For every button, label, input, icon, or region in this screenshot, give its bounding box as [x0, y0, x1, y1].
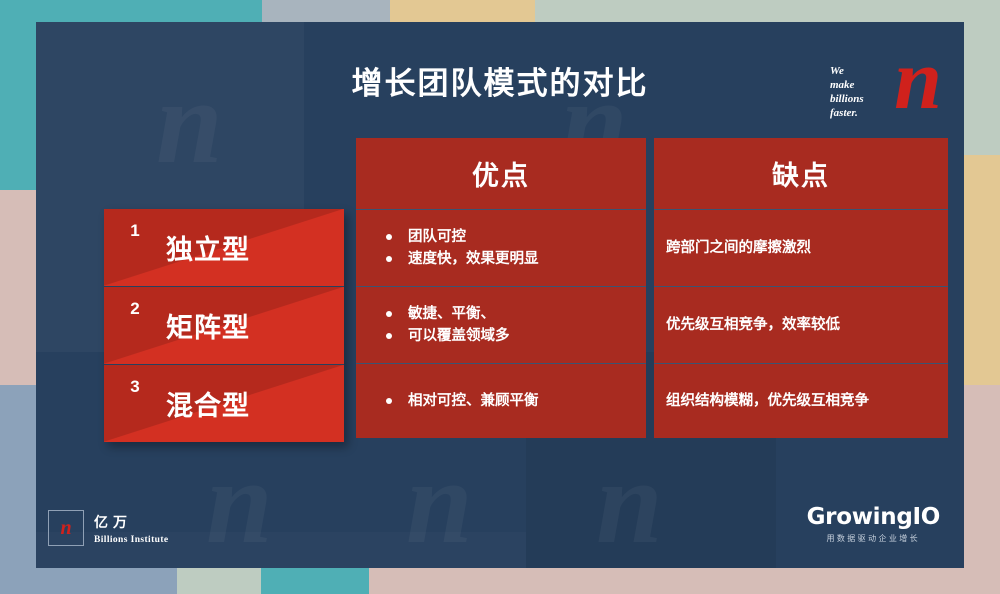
billions-name-en: Billions Institute [94, 535, 169, 545]
table-row-type-1[interactable]: 1 独立型 [104, 209, 344, 287]
brand-tagline-line-4: faster. [830, 106, 886, 120]
brand-tagline-line-3: billions [830, 92, 886, 106]
page-title: 增长团队模式的对比 [36, 58, 964, 103]
watermark-n-3: n [206, 442, 273, 562]
cons-column-header: 缺点 [654, 138, 948, 209]
row-name-1: 独立型 [166, 228, 250, 267]
type-column: 1 独立型 2 矩阵型 3 混合型 [104, 209, 344, 442]
growingio-logo: GrowingIO 用数据驱动企业增长 [807, 504, 940, 544]
brand-tagline: We make billions faster. [830, 64, 886, 120]
row-number-1: 1 [104, 221, 166, 241]
watermark-n-4: n [406, 442, 473, 562]
list-item: 速度快，效果更明显 [356, 248, 646, 270]
billions-logo-text: 亿万 Billions Institute [94, 512, 169, 545]
pros-list-row-1: 团队可控 速度快，效果更明显 [356, 226, 646, 270]
bg-block-steel-bottom [0, 568, 177, 594]
pros-cell-row-1[interactable]: 团队可控 速度快，效果更明显 [356, 209, 646, 286]
cons-column: 缺点 跨部门之间的摩擦激烈 优先级互相竞争，效率较低 组织结构模糊，优先级互相竞… [654, 138, 948, 438]
cons-cell-row-3[interactable]: 组织结构模糊，优先级互相竞争 [654, 363, 948, 438]
row-name-3: 混合型 [166, 384, 250, 423]
brand-tagline-line-2: make [830, 78, 886, 92]
slide-panel: n n n n n 增长团队模式的对比 We make billions fas… [36, 22, 964, 568]
bg-block-teal-bottom [261, 568, 369, 594]
brand-mark: We make billions faster. n [826, 42, 946, 134]
pros-column: 优点 团队可控 速度快，效果更明显 敏捷、平衡、 可以覆盖领域多 相对可控 [356, 138, 646, 438]
pros-column-header: 优点 [356, 138, 646, 209]
pros-list-row-2: 敏捷、平衡、 可以覆盖领域多 [356, 303, 646, 347]
cons-cell-row-2[interactable]: 优先级互相竞争，效率较低 [654, 286, 948, 363]
pros-cell-row-3[interactable]: 相对可控、兼顾平衡 [356, 363, 646, 438]
cons-text-row-2: 优先级互相竞争，效率较低 [654, 314, 948, 336]
cons-text-row-3: 组织结构模糊，优先级互相竞争 [654, 390, 948, 412]
bg-block-steel-left [0, 385, 40, 594]
bg-block-sage-bottom [177, 568, 261, 594]
bg-block-rose-left [0, 190, 40, 385]
billions-n-icon: n [48, 510, 84, 546]
list-item: 可以覆盖领域多 [356, 325, 646, 347]
growingio-name: GrowingIO [807, 504, 940, 530]
brand-n-logo: n [894, 36, 942, 122]
watermark-n-5: n [596, 442, 663, 562]
list-item: 敏捷、平衡、 [356, 303, 646, 325]
growingio-tagline: 用数据驱动企业增长 [807, 533, 940, 544]
cons-cell-row-1[interactable]: 跨部门之间的摩擦激烈 [654, 209, 948, 286]
list-item: 团队可控 [356, 226, 646, 248]
billions-institute-logo: n 亿万 Billions Institute [48, 510, 169, 546]
cons-text-row-1: 跨部门之间的摩擦激烈 [654, 237, 948, 259]
pros-cell-row-2[interactable]: 敏捷、平衡、 可以覆盖领域多 [356, 286, 646, 363]
row-number-2: 2 [104, 299, 166, 319]
billions-name-cn: 亿万 [94, 512, 169, 532]
table-row-type-2[interactable]: 2 矩阵型 [104, 287, 344, 365]
slide-canvas: n n n n n 增长团队模式的对比 We make billions fas… [0, 0, 1000, 594]
brand-tagline-line-1: We [830, 64, 886, 78]
bg-block-rose-bottom [369, 568, 1000, 594]
pros-list-row-3: 相对可控、兼顾平衡 [356, 390, 646, 412]
row-number-3: 3 [104, 377, 166, 397]
row-name-2: 矩阵型 [166, 306, 250, 345]
table-row-type-3[interactable]: 3 混合型 [104, 365, 344, 442]
list-item: 相对可控、兼顾平衡 [356, 390, 646, 412]
